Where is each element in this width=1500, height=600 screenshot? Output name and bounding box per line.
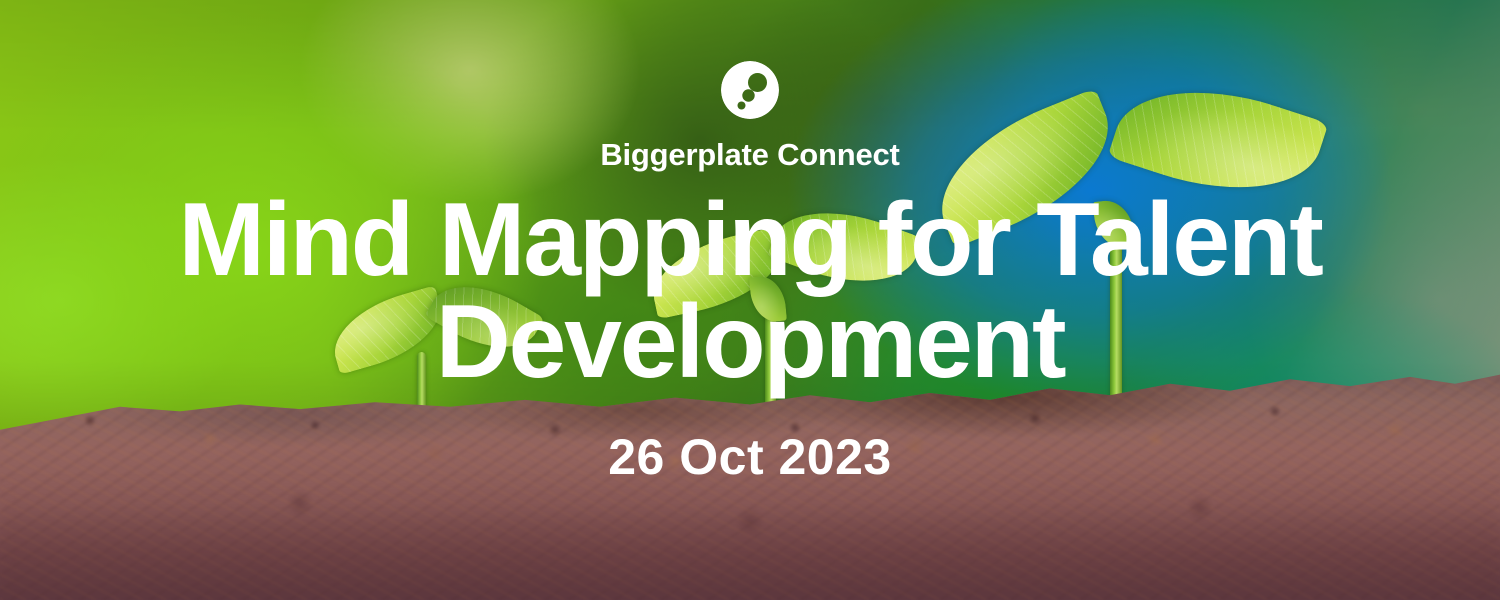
- banner-content: Biggerplate Connect Mind Mapping for Tal…: [0, 0, 1500, 600]
- page-title: Mind Mapping for Talent Development: [80, 190, 1420, 394]
- biggerplate-bubbles-logo-icon: [721, 61, 779, 119]
- event-banner: Biggerplate Connect Mind Mapping for Tal…: [0, 0, 1500, 600]
- event-series-label: Biggerplate Connect: [600, 139, 899, 170]
- event-date: 26 Oct 2023: [608, 432, 891, 482]
